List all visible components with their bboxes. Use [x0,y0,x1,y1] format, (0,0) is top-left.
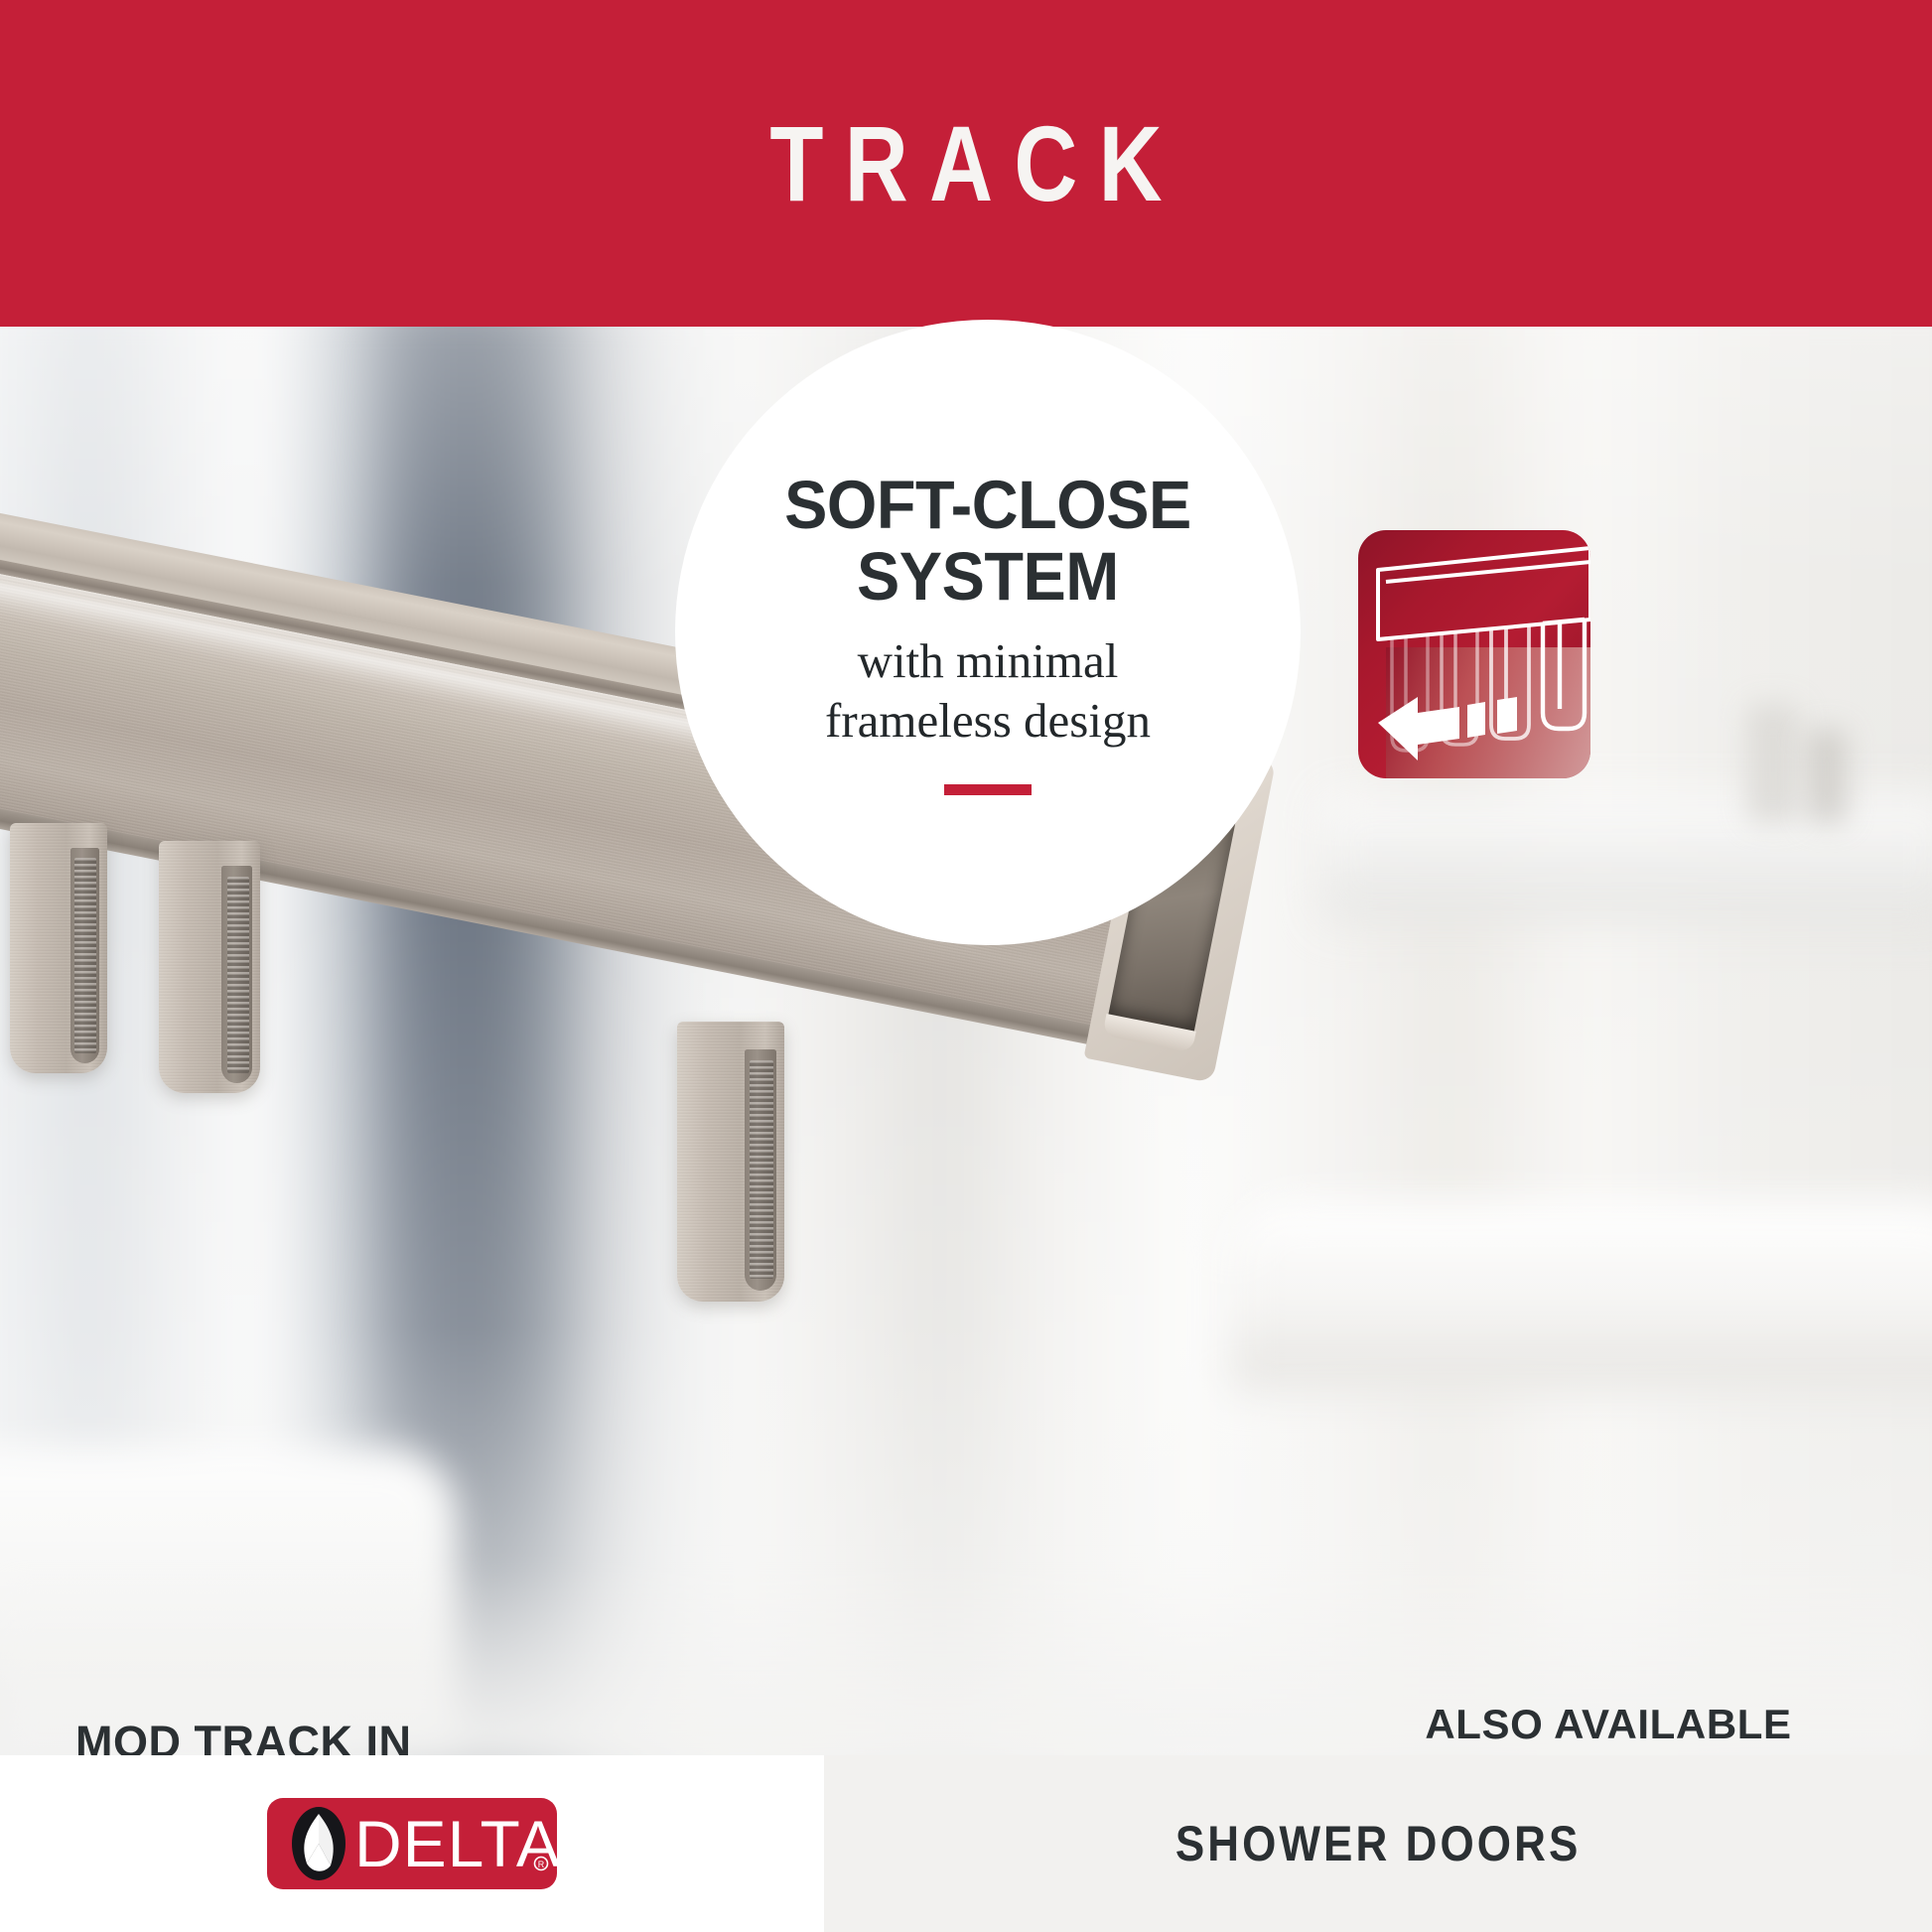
track-bracket [159,841,260,1093]
bracket-ribs [227,877,249,1073]
svg-text:R: R [538,1860,545,1869]
soft-close-track-icon [1356,528,1592,780]
bracket-ribs [750,1060,773,1279]
badge-accent-rule [944,784,1032,795]
footer-category-area: SHOWER DOORS [824,1755,1932,1932]
product-feature-poster: MOD TRACK IN BRUSHED NICKEL ALSO AVAILAB… [0,0,1932,1932]
track-bracket [10,823,107,1073]
badge-headline: SOFT-CLOSE SYSTEM [784,470,1191,613]
also-available-title: ALSO AVAILABLE IN [1400,1701,1817,1755]
footer-brand-area: DELTA R [0,1755,824,1932]
delta-logo: DELTA R [267,1794,557,1893]
page-title: TRACK [174,0,1758,327]
track-bracket [677,1022,784,1302]
footer: DELTA R SHOWER DOORS [0,1755,1932,1932]
also-available-block: ALSO AVAILABLE IN CHROME MATTE BLACK [1400,1701,1817,1755]
product-finish-caption: MOD TRACK IN BRUSHED NICKEL [75,1716,631,1755]
footer-category-label: SHOWER DOORS [1175,1815,1582,1872]
soft-close-badge: SOFT-CLOSE SYSTEM with minimal frameless… [675,320,1301,945]
bracket-ribs [74,858,96,1053]
badge-subhead: with minimal frameless design [825,631,1151,751]
header-band: TRACK [0,0,1932,327]
svg-text:DELTA: DELTA [354,1807,557,1880]
